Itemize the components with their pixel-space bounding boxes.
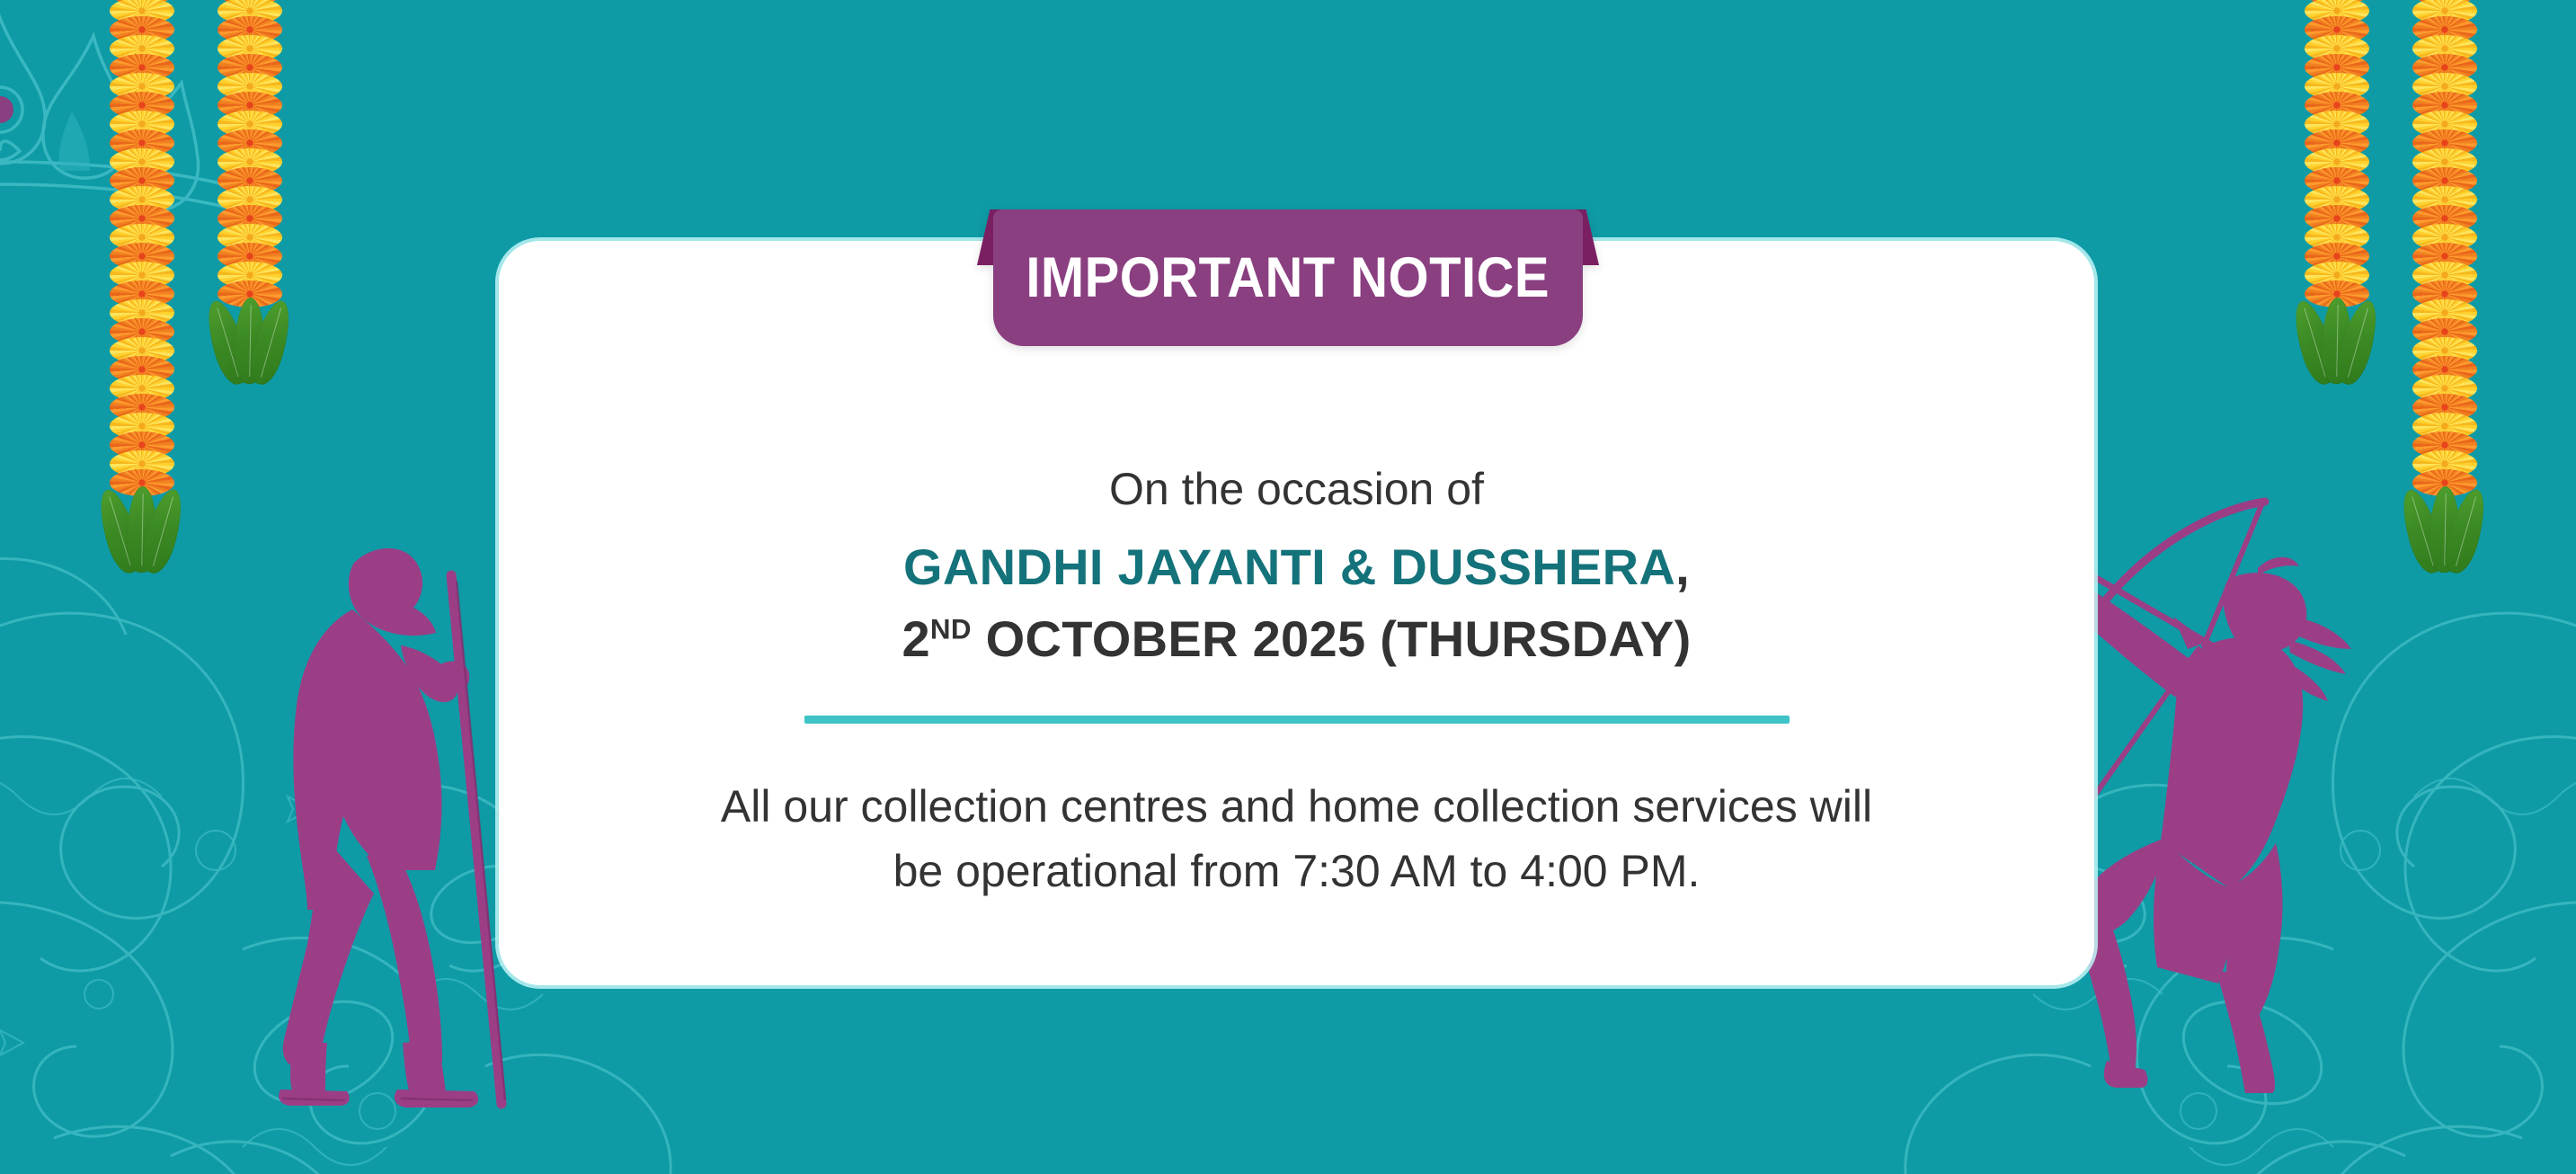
marigold-garland-icon <box>2412 0 2477 587</box>
ribbon-title-text: IMPORTANT NOTICE <box>1026 245 1550 310</box>
mango-leaf-cluster-icon <box>102 488 182 587</box>
festival-comma: , <box>1675 538 1690 595</box>
festival-names-text: GANDHI JAYANTI & DUSSHERA <box>903 538 1675 595</box>
festival-notice-banner: On the occasion of GANDHI JAYANTI & DUSS… <box>0 0 2576 1174</box>
date-line: 2ND OCTOBER 2025 (THURSDAY) <box>902 609 1691 669</box>
occasion-intro-text: On the occasion of <box>1109 464 1484 516</box>
notice-card: On the occasion of GANDHI JAYANTI & DUSS… <box>499 241 2094 985</box>
date-number: 2 <box>902 610 929 667</box>
important-notice-ribbon: IMPORTANT NOTICE <box>993 209 1583 346</box>
mango-leaf-cluster-icon <box>2405 488 2484 587</box>
ribbon-banner: IMPORTANT NOTICE <box>993 209 1583 346</box>
marigold-garland-icon <box>218 0 282 398</box>
mango-leaf-cluster-icon <box>210 299 289 398</box>
notice-body: On the occasion of GANDHI JAYANTI & DUSS… <box>499 378 2094 985</box>
date-ordinal-suffix: ND <box>930 613 972 645</box>
section-divider <box>804 716 1790 724</box>
marigold-garland-icon <box>110 0 174 587</box>
operating-hours-text: All our collection centres and home coll… <box>708 774 1886 904</box>
date-rest-text: OCTOBER 2025 (THURSDAY) <box>972 610 1692 667</box>
marigold-garland-icon <box>2305 0 2369 398</box>
mango-leaf-cluster-icon <box>2297 299 2376 398</box>
festival-names-line: GANDHI JAYANTI & DUSSHERA, <box>903 538 1690 597</box>
